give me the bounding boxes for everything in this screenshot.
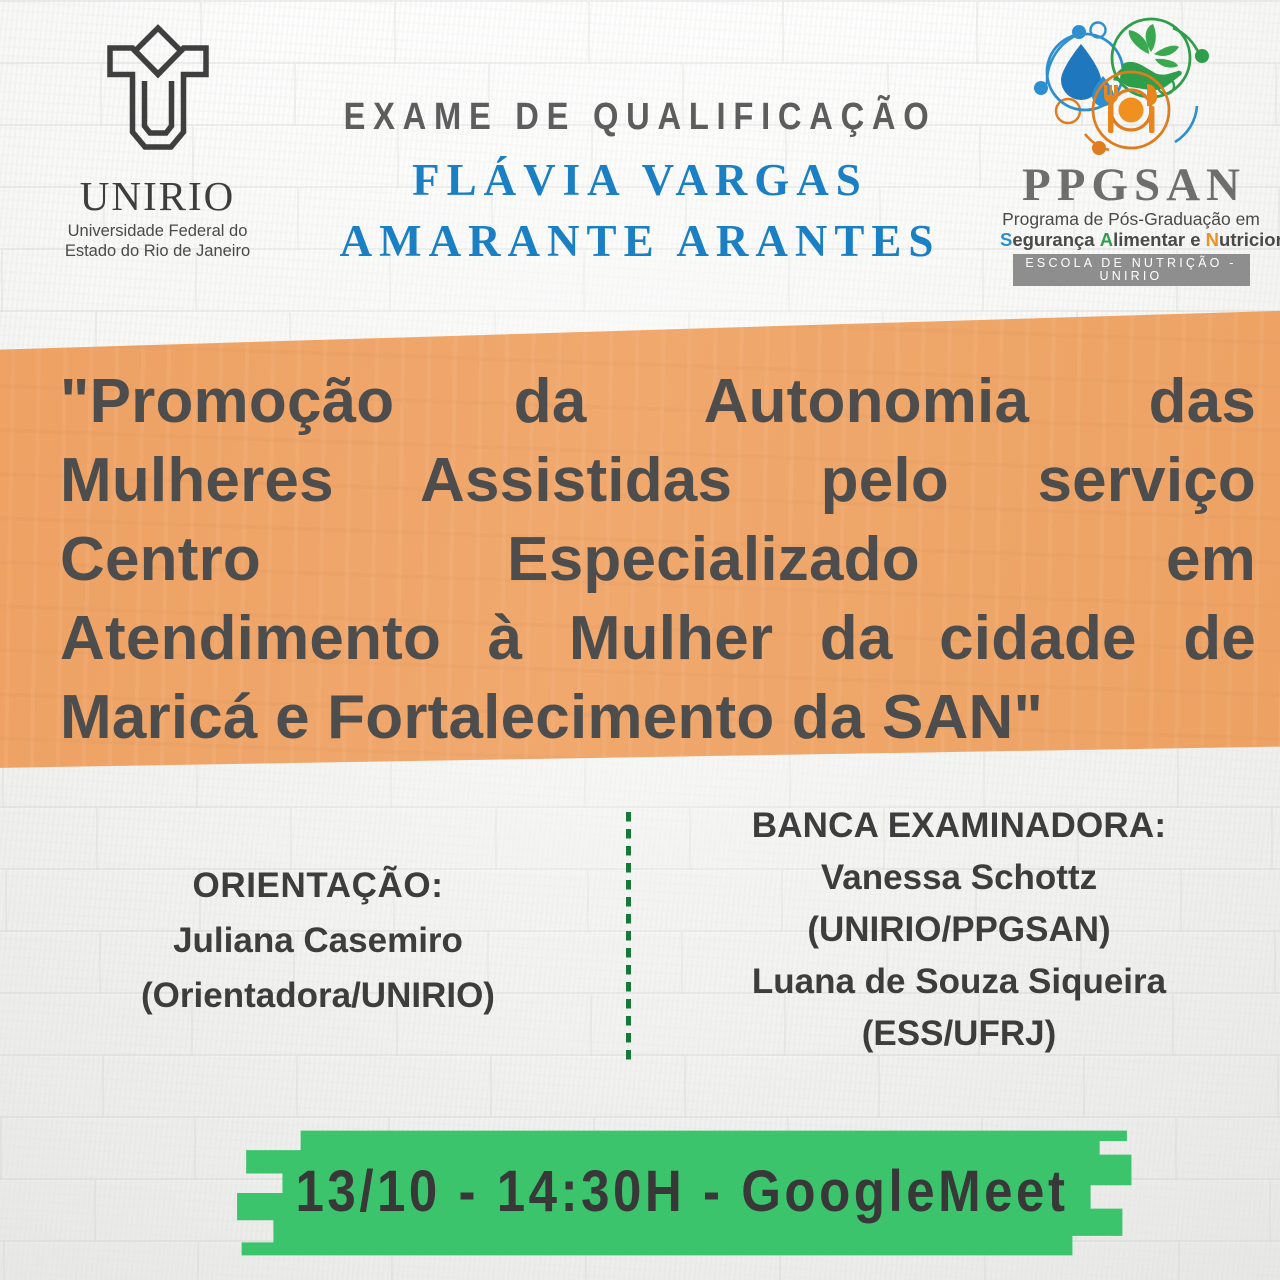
poster-canvas: UNIRIO Universidade Federal do Estado do… [0,0,1280,1280]
thesis-title: "Promoção da Autonomia das Mulheres Assi… [60,362,1256,757]
schedule-text: 13/10 - 14:30H - GoogleMeet [282,1128,1081,1258]
committee-member1-name: Vanessa Schottz [670,852,1248,904]
ppgsan-icons-group [1023,10,1239,162]
thesis-title-line4: Atendimento à Mulher da cidade de [60,599,1256,678]
schedule-banner: 13/10 - 14:30H - GoogleMeet [228,1128,1136,1258]
advisor-affiliation: (Orientadora/UNIRIO) [38,968,598,1023]
committee-member2-affiliation: (ESS/UFRJ) [670,1008,1248,1060]
thesis-title-line5: Maricá e Fortalecimento da SAN" [60,678,1256,757]
column-divider [626,812,631,1060]
student-name: FLÁVIA VARGAS AMARANTE ARANTES [0,150,1280,272]
thesis-title-line2: Mulheres Assistidas pelo serviço [60,441,1256,520]
page-kicker: EXAME DE QUALIFICAÇÃO [90,96,1191,139]
advisor-block: ORIENTAÇÃO: Juliana Casemiro (Orientador… [38,858,598,1023]
committee-heading: BANCA EXAMINADORA: [670,800,1248,852]
advisor-name: Juliana Casemiro [38,913,598,968]
committee-member2-name: Luana de Souza Siqueira [670,956,1248,1008]
committee-block: BANCA EXAMINADORA: Vanessa Schottz (UNIR… [670,800,1248,1060]
advisor-heading: ORIENTAÇÃO: [38,858,598,913]
thesis-title-line3: Centro Especializado em [60,520,1256,599]
student-name-line1: FLÁVIA VARGAS [0,150,1280,211]
student-name-line2: AMARANTE ARANTES [0,211,1280,272]
thesis-title-line1: "Promoção da Autonomia das [60,362,1256,441]
committee-member1-affiliation: (UNIRIO/PPGSAN) [670,904,1248,956]
